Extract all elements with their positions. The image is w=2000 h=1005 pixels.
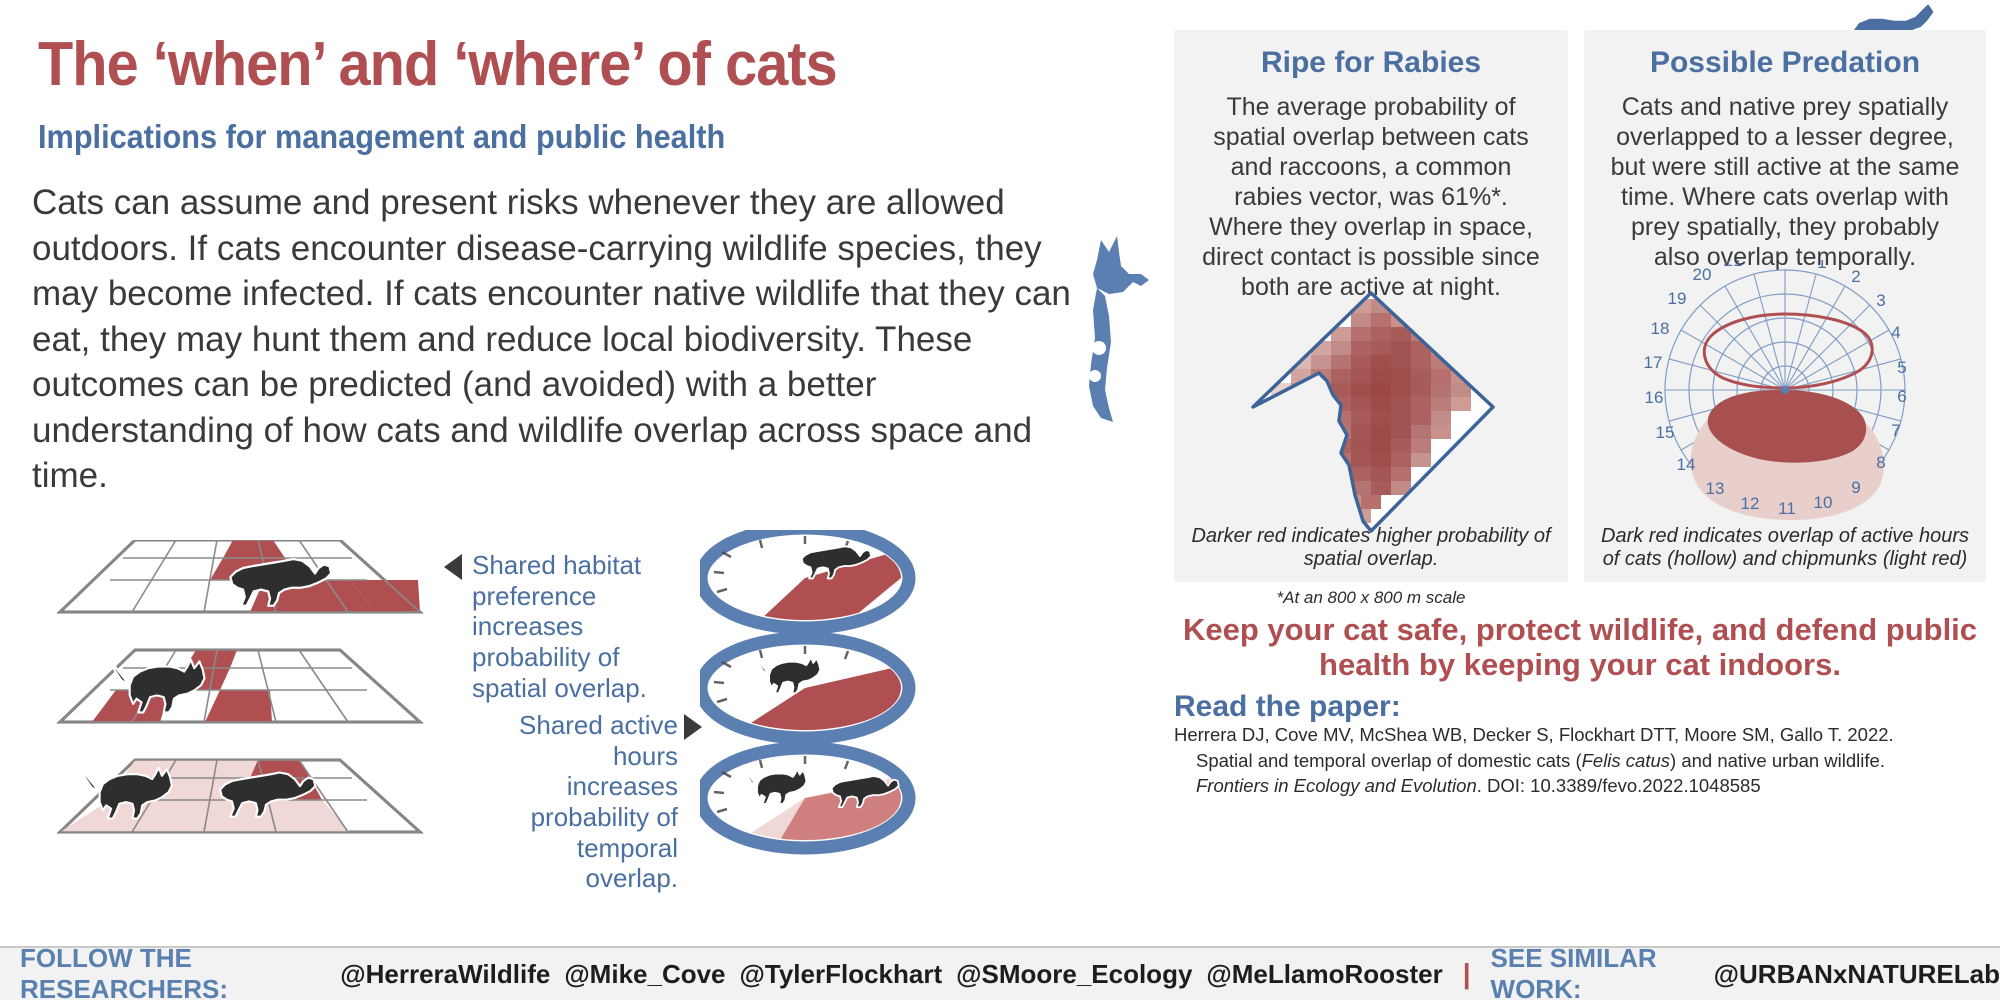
svg-text:22: 22 — [1757, 260, 1776, 262]
similar-work-label: SEE SIMILAR WORK: — [1491, 943, 1700, 1005]
handle-smoore-ecology[interactable]: @SMoore_Ecology — [956, 959, 1192, 990]
card-a-body: The average probability of spatial overl… — [1174, 80, 1568, 302]
intro-paragraph: Cats can assume and present risks whenev… — [32, 180, 1092, 499]
svg-text:20: 20 — [1693, 265, 1712, 284]
card-a-title: Ripe for Rabies — [1174, 30, 1568, 80]
footer-bar: FOLLOW THE RESEARCHERS: @HerreraWildlife… — [0, 946, 2000, 1000]
svg-text:12: 12 — [1741, 494, 1760, 513]
handle-tyler-flockhart[interactable]: @TylerFlockhart — [740, 959, 943, 990]
handle-mellamorooster[interactable]: @MeLlamoRooster — [1206, 959, 1442, 990]
svg-text:10: 10 — [1814, 493, 1833, 512]
citation: Herrera DJ, Cove MV, McShea WB, Decker S… — [1174, 722, 1990, 799]
arrow-left-icon — [444, 554, 462, 580]
clock-face-1 — [701, 530, 909, 628]
svg-text:21: 21 — [1724, 260, 1743, 270]
svg-text:6: 6 — [1897, 387, 1906, 406]
svg-text:3: 3 — [1876, 291, 1885, 310]
svg-text:7: 7 — [1891, 421, 1900, 440]
svg-text:8: 8 — [1876, 453, 1885, 472]
temporal-clock-stack — [700, 530, 1020, 870]
cat-mascot-icon — [1075, 230, 1155, 430]
read-paper-heading: Read the paper: — [1174, 690, 1401, 724]
svg-text:13: 13 — [1706, 479, 1725, 498]
grid-plane-3 — [60, 760, 420, 832]
svg-text:1: 1 — [1817, 260, 1826, 272]
overlap-diagram: Shared habitat preference increases prob… — [20, 540, 1140, 940]
svg-text:16: 16 — [1645, 388, 1664, 407]
handle-herrera[interactable]: @HerreraWildlife — [340, 959, 550, 990]
svg-text:15: 15 — [1656, 423, 1675, 442]
call-to-action: Keep your cat safe, protect wildlife, an… — [1170, 612, 1990, 683]
activity-polar-plot: 1 2 3 4 5 6 7 8 9 10 11 12 13 14 15 16 1 — [1620, 260, 1950, 520]
scale-footnote: *At an 800 x 800 m scale — [1174, 588, 1568, 608]
grid-plane-1 — [60, 540, 420, 612]
clock-face-3 — [701, 748, 909, 848]
left-column: The ‘when’ and ‘where’ of cats Implicati… — [0, 0, 1160, 940]
clock-face-2 — [701, 638, 909, 738]
citation-line-2: Spatial and temporal overlap of domestic… — [1174, 748, 1990, 774]
spatial-grid-stack — [20, 540, 460, 870]
footer-divider: | — [1463, 958, 1471, 990]
card-b-title: Possible Predation — [1584, 30, 1986, 80]
card-a-caption: Darker red indicates higher probability … — [1174, 525, 1568, 572]
svg-text:14: 14 — [1677, 455, 1696, 474]
citation-line-1: Herrera DJ, Cove MV, McShea WB, Decker S… — [1174, 724, 1894, 745]
card-ripe-for-rabies: Ripe for Rabies The average probability … — [1174, 30, 1568, 582]
svg-text:11: 11 — [1778, 499, 1796, 518]
svg-text:18: 18 — [1651, 319, 1670, 338]
follow-label: FOLLOW THE RESEARCHERS: — [20, 943, 326, 1005]
svg-text:9: 9 — [1851, 478, 1860, 497]
right-column: Ripe for Rabies The average probability … — [1160, 0, 2000, 940]
svg-text:17: 17 — [1644, 353, 1663, 372]
page-title: The ‘when’ and ‘where’ of cats — [38, 32, 837, 97]
page-subtitle: Implications for management and public h… — [38, 118, 725, 156]
heatmap-cells — [1231, 285, 1511, 540]
grid-plane-2 — [60, 650, 420, 722]
dc-heatmap-map — [1231, 285, 1511, 540]
handle-mike-cove[interactable]: @Mike_Cove — [564, 959, 725, 990]
card-possible-predation: Possible Predation Cats and native prey … — [1584, 30, 1986, 582]
svg-text:19: 19 — [1668, 289, 1687, 308]
card-b-body: Cats and native prey spatially overlappe… — [1584, 80, 1986, 272]
svg-text:5: 5 — [1897, 358, 1906, 377]
card-b-caption: Dark red indicates overlap of active hou… — [1584, 525, 1986, 572]
annotation-spatial: Shared habitat preference increases prob… — [472, 550, 672, 703]
annotation-temporal: Shared active hours increases probabilit… — [498, 710, 678, 894]
infographic-canvas: The ‘when’ and ‘where’ of cats Implicati… — [0, 0, 2000, 1000]
handle-urbanxnaturelab[interactable]: @URBANxNATURELab — [1714, 959, 2000, 990]
svg-text:2: 2 — [1851, 267, 1860, 286]
svg-text:4: 4 — [1891, 323, 1900, 342]
polar-center-dot — [1781, 386, 1789, 394]
citation-line-3: Frontiers in Ecology and Evolution. DOI:… — [1174, 773, 1990, 799]
